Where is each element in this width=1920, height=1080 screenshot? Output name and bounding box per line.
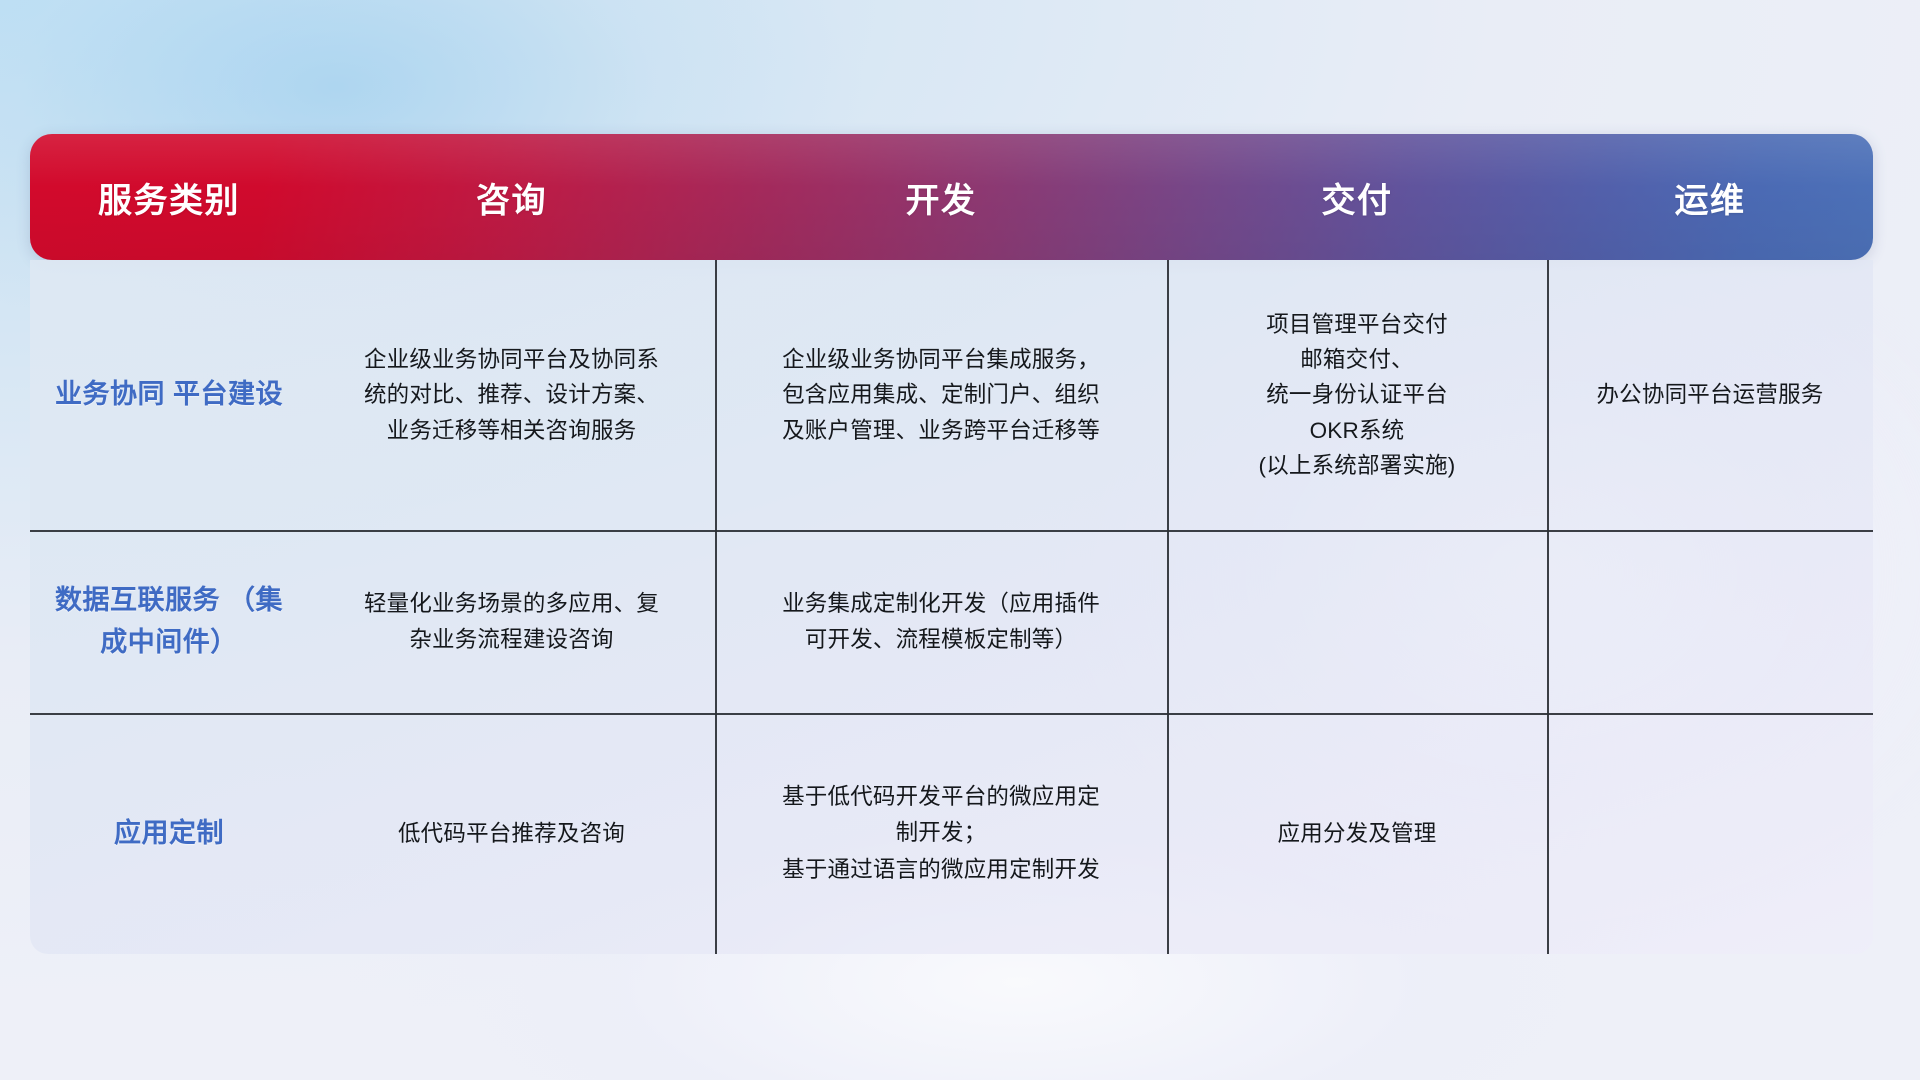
row-development-cell: 基于低代码开发平台的微应用定 制开发； 基于通过语言的微应用定制开发: [715, 713, 1167, 954]
row-development-text: 基于低代码开发平台的微应用定 制开发； 基于通过语言的微应用定制开发: [782, 779, 1100, 888]
row-consulting-cell: 低代码平台推荐及咨询: [308, 713, 715, 954]
row-operations-text: 办公协同平台运营服务: [1596, 377, 1823, 412]
row-development-text: 企业级业务协同平台集成服务， 包含应用集成、定制门户、组织 及账户管理、业务跨平…: [782, 342, 1100, 447]
table-header-row: 服务类别 咨询 开发 交付 运维: [30, 134, 1873, 260]
row-delivery-text: 项目管理平台交付 邮箱交付、 统一身份认证平台 OKR系统 (以上系统部署实施): [1259, 307, 1456, 482]
table-header-delivery: 交付: [1167, 173, 1547, 222]
table-body-panel: 业务协同 平台建设 企业级业务协同平台及协同系 统的对比、推荐、设计方案、 业务…: [30, 260, 1873, 954]
column-divider-consulting-development: [715, 260, 717, 954]
row-development-cell: 企业级业务协同平台集成服务， 包含应用集成、定制门户、组织 及账户管理、业务跨平…: [715, 260, 1167, 530]
table-header-operations: 运维: [1547, 173, 1873, 222]
row-category-cell: 应用定制: [30, 713, 308, 954]
row-consulting-cell: 企业级业务协同平台及协同系 统的对比、推荐、设计方案、 业务迁移等相关咨询服务: [308, 260, 715, 530]
row-development-cell: 业务集成定制化开发（应用插件 可开发、流程模板定制等）: [715, 530, 1167, 713]
row-development-text: 业务集成定制化开发（应用插件 可开发、流程模板定制等）: [782, 586, 1100, 656]
table-header-development: 开发: [715, 173, 1167, 222]
row-category-cell: 数据互联服务 （集成中间件）: [30, 530, 308, 713]
row-category-label: 应用定制: [114, 813, 224, 854]
row-consulting-text: 轻量化业务场景的多应用、复 杂业务流程建设咨询: [364, 586, 659, 656]
row-delivery-text: 应用分发及管理: [1278, 816, 1437, 851]
table-row: 业务协同 平台建设 企业级业务协同平台及协同系 统的对比、推荐、设计方案、 业务…: [30, 260, 1873, 530]
row-consulting-text: 企业级业务协同平台及协同系 统的对比、推荐、设计方案、 业务迁移等相关咨询服务: [364, 342, 659, 447]
column-divider-development-delivery: [1167, 260, 1169, 954]
row-category-label: 数据互联服务 （集成中间件）: [44, 580, 294, 662]
row-operations-cell: [1547, 713, 1873, 954]
table-header-service-category: 服务类别: [30, 173, 308, 222]
table-header-consulting: 咨询: [308, 173, 715, 222]
row-consulting-text: 低代码平台推荐及咨询: [398, 816, 625, 851]
row-delivery-cell: 项目管理平台交付 邮箱交付、 统一身份认证平台 OKR系统 (以上系统部署实施): [1167, 260, 1547, 530]
row-delivery-cell: 应用分发及管理: [1167, 713, 1547, 954]
row-delivery-cell: [1167, 530, 1547, 713]
row-operations-cell: 办公协同平台运营服务: [1547, 260, 1873, 530]
row-category-label: 业务协同 平台建设: [55, 374, 283, 415]
column-divider-delivery-operations: [1547, 260, 1549, 954]
row-consulting-cell: 轻量化业务场景的多应用、复 杂业务流程建设咨询: [308, 530, 715, 713]
table-row: 应用定制 低代码平台推荐及咨询 基于低代码开发平台的微应用定 制开发； 基于通过…: [30, 713, 1873, 954]
row-operations-cell: [1547, 530, 1873, 713]
row-category-cell: 业务协同 平台建设: [30, 260, 308, 530]
table-row: 数据互联服务 （集成中间件） 轻量化业务场景的多应用、复 杂业务流程建设咨询 业…: [30, 530, 1873, 713]
service-matrix-table: 服务类别 咨询 开发 交付 运维 业务协同 平台建设 企业级业务协同平台及协同系…: [30, 134, 1873, 954]
